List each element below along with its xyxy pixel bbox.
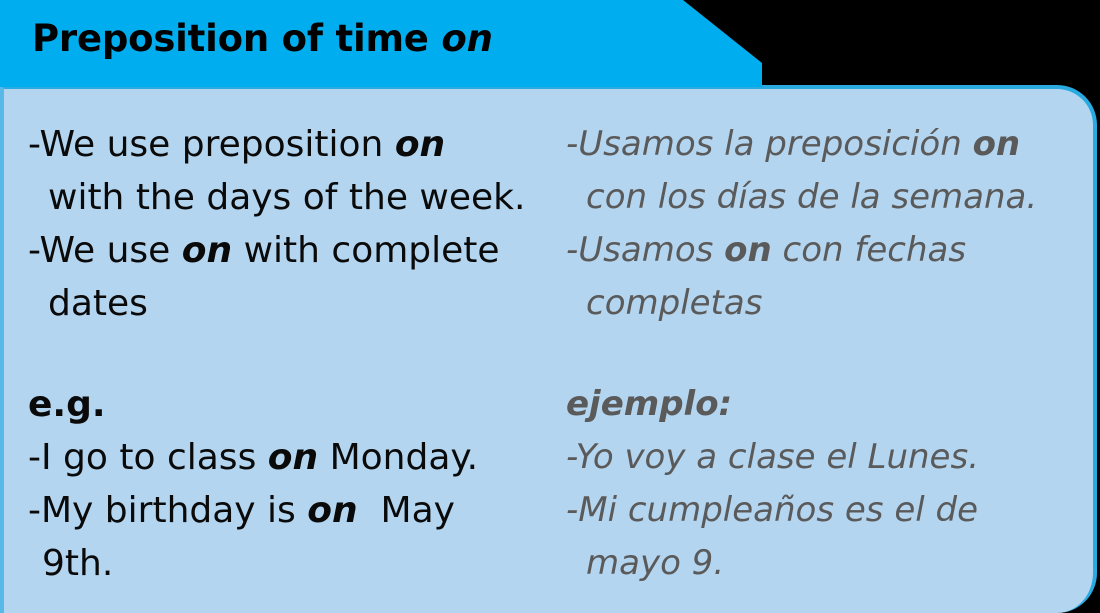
spanish-rule-line: completas bbox=[566, 277, 1100, 330]
line-pre: -Yo voy a clase el Lunes. bbox=[566, 437, 979, 477]
line-post: with complete bbox=[232, 230, 499, 271]
line-pre: -I go to class bbox=[28, 437, 268, 478]
line-pre: con los días de la semana. bbox=[586, 177, 1037, 217]
line-pre: -My birthday is bbox=[28, 490, 307, 531]
line-pre: dates bbox=[48, 283, 148, 324]
english-example-line: -I go to class on Monday. bbox=[28, 431, 556, 484]
two-column-layout: -We use preposition on with the days of … bbox=[0, 85, 1100, 613]
line-pre: -We use preposition bbox=[28, 124, 395, 165]
spanish-rule-line: -Usamos la preposición on bbox=[566, 118, 1100, 171]
line-pre: -Usamos la preposición bbox=[566, 124, 973, 164]
example-label-text: ejemplo: bbox=[566, 384, 732, 424]
line-post: May bbox=[358, 490, 455, 531]
line-post: con fechas bbox=[772, 230, 966, 270]
line-emphasis: on bbox=[724, 230, 772, 270]
english-rule-line: -We use preposition on bbox=[28, 118, 556, 171]
line-emphasis: on bbox=[395, 124, 445, 165]
spanish-rules-block: -Usamos la preposición on con los días d… bbox=[566, 118, 1100, 330]
line-emphasis: on bbox=[307, 490, 357, 531]
english-example-line: -My birthday is on May bbox=[28, 484, 556, 537]
line-emphasis: on bbox=[973, 124, 1021, 164]
section-spacer bbox=[28, 330, 556, 378]
line-emphasis: on bbox=[268, 437, 318, 478]
line-pre: with the days of the week. bbox=[48, 177, 525, 218]
line-post: Monday. bbox=[318, 437, 478, 478]
english-rule-line: with the days of the week. bbox=[28, 171, 556, 224]
spanish-examples-block: ejemplo: -Yo voy a clase el Lunes. -Mi c… bbox=[566, 378, 1100, 590]
spanish-example-line: -Yo voy a clase el Lunes. bbox=[566, 431, 1100, 484]
slide-canvas: Preposition of time on -We use prepositi… bbox=[0, 0, 1100, 613]
line-pre: -Mi cumpleaños es el de bbox=[566, 490, 978, 530]
english-example-line: 9th. bbox=[28, 537, 556, 590]
english-rule-line: dates bbox=[28, 277, 556, 330]
line-pre: mayo 9. bbox=[586, 543, 724, 583]
spanish-rule-line: -Usamos on con fechas bbox=[566, 224, 1100, 277]
english-examples-block: e.g. -I go to class on Monday. -My birth… bbox=[28, 378, 556, 590]
title-emphasis: on bbox=[441, 17, 492, 60]
line-pre: -Usamos bbox=[566, 230, 724, 270]
spanish-example-line: -Mi cumpleaños es el de bbox=[566, 484, 1100, 537]
english-rules-block: -We use preposition on with the days of … bbox=[28, 118, 556, 330]
section-spacer bbox=[566, 330, 1100, 378]
english-rule-line: -We use on with complete bbox=[28, 224, 556, 277]
spanish-example-line: mayo 9. bbox=[566, 537, 1100, 590]
spanish-rule-line: con los días de la semana. bbox=[566, 171, 1100, 224]
page-title: Preposition of time on bbox=[32, 18, 493, 61]
line-pre: completas bbox=[586, 283, 762, 323]
line-pre: 9th. bbox=[42, 543, 113, 584]
spanish-column: -Usamos la preposición on con los días d… bbox=[556, 85, 1100, 613]
line-pre: -We use bbox=[28, 230, 182, 271]
title-prefix: Preposition of time bbox=[32, 17, 441, 60]
example-label-text: e.g. bbox=[28, 384, 106, 425]
english-example-label: e.g. bbox=[28, 378, 556, 431]
line-emphasis: on bbox=[182, 230, 232, 271]
spanish-example-label: ejemplo: bbox=[566, 378, 1100, 431]
english-column: -We use preposition on with the days of … bbox=[0, 85, 556, 613]
